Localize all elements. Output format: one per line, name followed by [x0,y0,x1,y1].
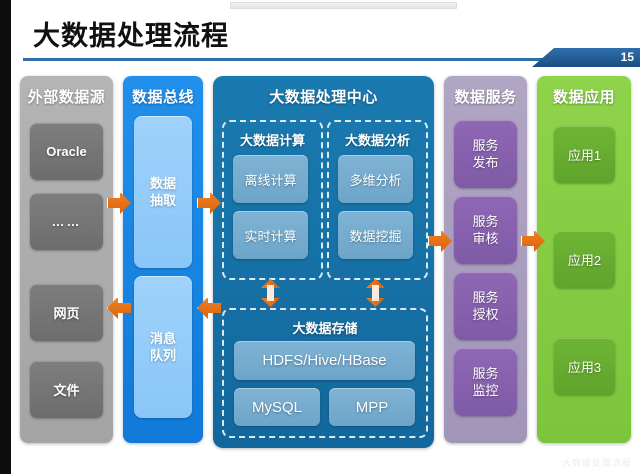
zone-big-data-storage[interactable]: 大数据存储 HDFS/Hive/HBase MySQL MPP [222,308,428,438]
service-item-authorization-line2: 授权 [472,306,498,323]
bus-item-message-queue-line2: 队列 [150,347,176,364]
service-item-authorization[interactable]: 服务 授权 [454,272,517,340]
service-item-publish-line2: 发布 [472,154,498,171]
tile-realtime-compute[interactable]: 实时计算 [233,211,308,259]
zone-title-storage: 大数据存储 [224,318,426,337]
service-item-review-line2: 审核 [472,230,498,247]
source-item-oracle[interactable]: Oracle [30,123,103,180]
page-title: 大数据处理流程 [33,14,229,53]
arrow-compute-to-storage-icon [261,279,280,307]
column-big-data-processing-center[interactable]: 大数据处理中心 大数据计算 离线计算 实时计算 大数据分析 多维分析 数据挖掘 … [213,76,434,448]
zone-big-data-compute[interactable]: 大数据计算 离线计算 实时计算 [222,120,323,280]
watermark: 大数据处理流程 [562,456,632,469]
column-data-service[interactable]: 数据服务 服务 发布 服务 审核 服务 授权 服务 监控 [444,76,527,443]
zone-big-data-analysis[interactable]: 大数据分析 多维分析 数据挖掘 [327,120,428,280]
tile-offline-compute[interactable]: 离线计算 [233,155,308,203]
tile-mpp[interactable]: MPP [329,388,415,426]
service-item-monitoring-line1: 服务 [472,365,498,382]
source-item-webpage[interactable]: 网页 [30,284,103,341]
slide-header: 大数据处理流程 15 [11,8,640,58]
zone-title-analysis: 大数据分析 [329,130,426,149]
service-item-publish[interactable]: 服务 发布 [454,120,517,188]
application-item-app2[interactable]: 应用2 [554,231,615,288]
bus-item-data-extraction-line2: 抽取 [150,192,176,209]
column-title-data-bus: 数据总线 [123,86,203,107]
column-external-data-source[interactable]: 外部数据源 Oracle …… 网页 文件 [20,76,113,443]
column-title-processing-center: 大数据处理中心 [213,86,434,107]
service-item-monitoring-line2: 监控 [472,382,498,399]
application-item-app3[interactable]: 应用3 [554,338,615,395]
column-title-data-service: 数据服务 [444,86,527,107]
column-data-application[interactable]: 数据应用 应用1 应用2 应用3 [537,76,631,443]
slide-left-edge [0,0,11,474]
page-number: 15 [621,49,634,66]
bus-item-data-extraction[interactable]: 数据 抽取 [134,116,192,268]
column-title-data-application: 数据应用 [537,86,631,107]
service-item-monitoring[interactable]: 服务 监控 [454,348,517,416]
service-item-publish-line1: 服务 [472,137,498,154]
bus-item-message-queue-line1: 消息 [150,330,176,347]
application-item-app1[interactable]: 应用1 [554,126,615,183]
source-item-ellipsis[interactable]: …… [30,193,103,250]
service-item-review[interactable]: 服务 审核 [454,196,517,264]
zone-title-compute: 大数据计算 [224,130,321,149]
tile-mysql[interactable]: MySQL [234,388,320,426]
column-data-bus[interactable]: 数据总线 数据 抽取 消息 队列 [123,76,203,443]
service-item-authorization-line1: 服务 [472,289,498,306]
tile-multidimensional-analysis[interactable]: 多维分析 [338,155,413,203]
tile-data-mining[interactable]: 数据挖掘 [338,211,413,259]
slide: 大数据处理流程 15 外部数据源 Oracle …… 网页 文件 数据总线 数据… [0,0,640,474]
column-title-external-data-source: 外部数据源 [20,86,113,107]
source-item-file[interactable]: 文件 [30,361,103,418]
service-item-review-line1: 服务 [472,213,498,230]
bus-item-data-extraction-line1: 数据 [150,175,176,192]
tile-hdfs-hive-hbase[interactable]: HDFS/Hive/HBase [234,341,415,380]
arrow-analysis-to-storage-icon [366,279,385,307]
bus-item-message-queue[interactable]: 消息 队列 [134,276,192,418]
process-flow-diagram: 外部数据源 Oracle …… 网页 文件 数据总线 数据 抽取 消息 队列 大… [11,70,640,450]
